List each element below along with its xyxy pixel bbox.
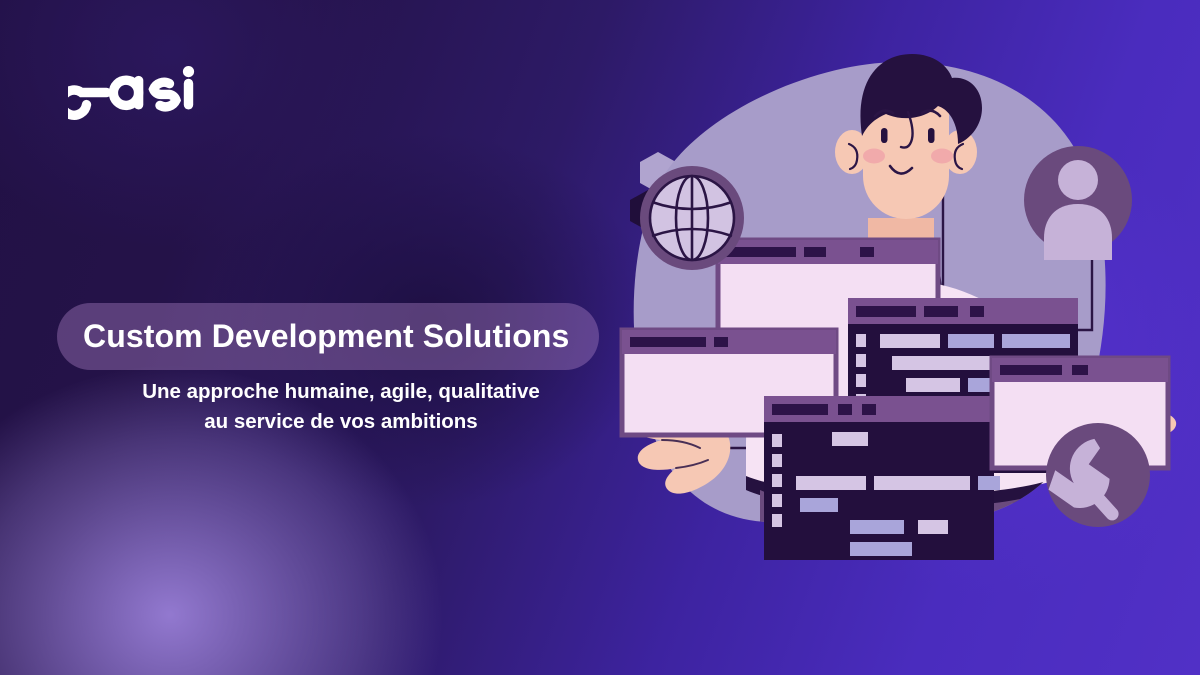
hero-title-pill: Custom Development Solutions [57,303,599,370]
easi-logo[interactable] [68,62,198,124]
hero-subtitle: Une approche humaine, agile, qualitative… [57,377,625,437]
globe-icon [640,166,744,270]
subtitle-line-2: au service de vos ambitions [57,407,625,437]
hero-illustration [600,40,1200,560]
page-title: Custom Development Solutions [83,318,569,355]
subtitle-line-1: Une approche humaine, agile, qualitative [142,380,540,403]
code-window-bottom [764,396,1000,560]
hero-banner: Custom Development Solutions Une approch… [0,0,1200,675]
logo-dot [183,66,194,77]
